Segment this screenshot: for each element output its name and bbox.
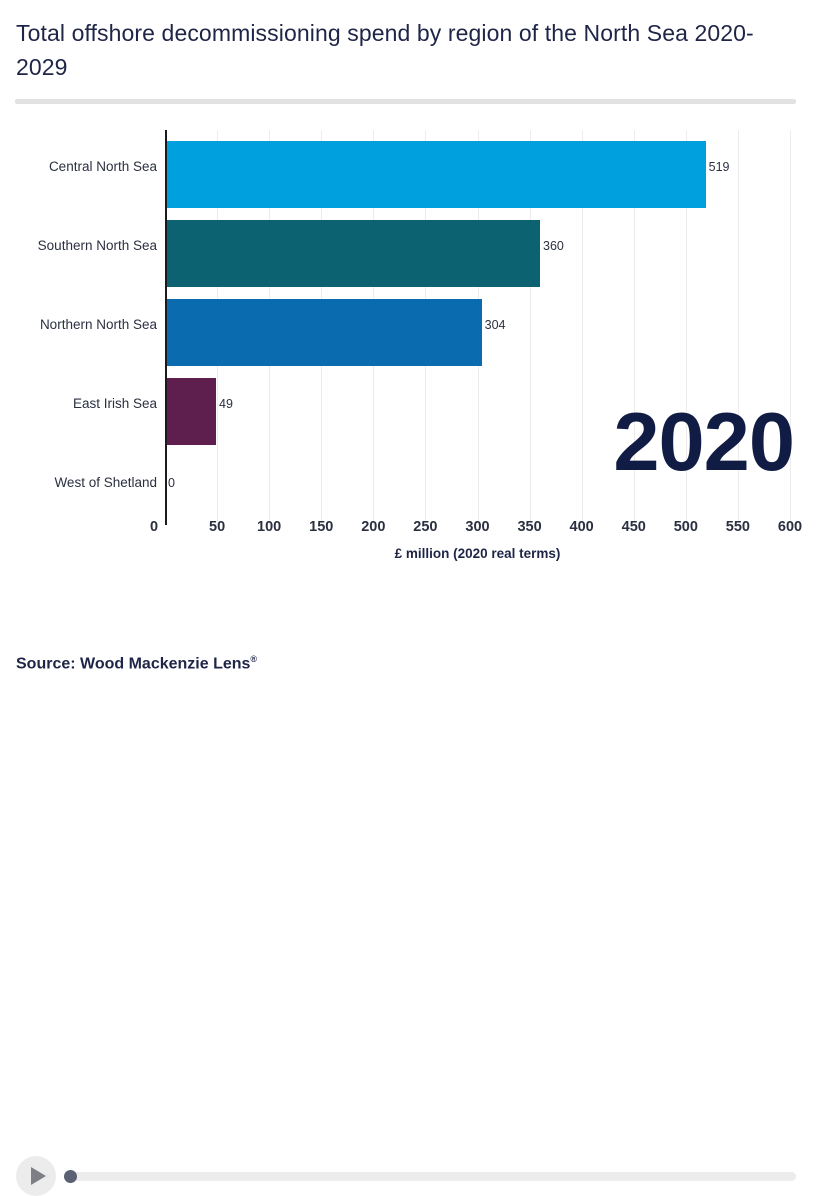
x-axis-tick-label: 500 bbox=[674, 519, 698, 535]
timeline-slider[interactable] bbox=[65, 1172, 796, 1181]
y-axis-category-label: Central North Sea bbox=[0, 130, 157, 205]
x-axis-tick-label: 300 bbox=[465, 519, 489, 535]
bar-row[interactable]: 519 bbox=[165, 130, 790, 205]
x-axis-tick-label: 200 bbox=[361, 519, 385, 535]
y-axis-line bbox=[165, 130, 167, 525]
bar[interactable] bbox=[165, 220, 540, 287]
play-icon[interactable] bbox=[16, 1156, 56, 1196]
timeline-slider-handle[interactable] bbox=[64, 1170, 77, 1183]
bar-value-label: 304 bbox=[482, 318, 506, 332]
x-axis-tick-label: 600 bbox=[778, 519, 802, 535]
title-divider bbox=[15, 99, 796, 104]
bar[interactable] bbox=[165, 299, 482, 366]
bar-value-label: 360 bbox=[540, 239, 564, 253]
x-axis-ticks: 050100150200250300350400450500550600 bbox=[0, 519, 830, 543]
bar-value-label: 519 bbox=[706, 160, 730, 174]
x-axis-tick-label: 350 bbox=[517, 519, 541, 535]
trademark-symbol: ® bbox=[250, 654, 257, 664]
x-axis-tick-label: 400 bbox=[570, 519, 594, 535]
x-axis-tick-label: 550 bbox=[726, 519, 750, 535]
x-axis-title: £ million (2020 real terms) bbox=[165, 546, 790, 561]
play-triangle-glyph bbox=[31, 1167, 46, 1185]
bar-row[interactable]: 304 bbox=[165, 288, 790, 363]
y-axis-category-labels: Central North SeaSouthern North SeaNorth… bbox=[0, 130, 157, 525]
bar[interactable] bbox=[165, 141, 706, 208]
bar-row[interactable]: 360 bbox=[165, 209, 790, 284]
y-axis-category-label: Southern North Sea bbox=[0, 209, 157, 284]
animation-player bbox=[0, 575, 830, 627]
x-axis-tick-label: 0 bbox=[150, 519, 158, 535]
chart-card: Total offshore decommissioning spend by … bbox=[0, 0, 830, 682]
x-axis-tick-label: 450 bbox=[622, 519, 646, 535]
x-axis-tick-label: 250 bbox=[413, 519, 437, 535]
bar-value-label: 49 bbox=[216, 397, 233, 411]
page-title: Total offshore decommissioning spend by … bbox=[16, 16, 786, 84]
source-note: Source: Wood Mackenzie Lens® bbox=[16, 654, 257, 673]
year-annotation: 2020 bbox=[613, 399, 794, 485]
y-axis-category-label: Northern North Sea bbox=[0, 288, 157, 363]
x-axis-tick-label: 150 bbox=[309, 519, 333, 535]
x-axis-tick-label: 50 bbox=[209, 519, 225, 535]
y-axis-category-label: West of Shetland bbox=[0, 446, 157, 521]
x-axis-tick-label: 100 bbox=[257, 519, 281, 535]
y-axis-category-label: East Irish Sea bbox=[0, 367, 157, 442]
bar[interactable] bbox=[165, 378, 216, 445]
source-label: Source: Wood Mackenzie Lens bbox=[16, 655, 250, 672]
